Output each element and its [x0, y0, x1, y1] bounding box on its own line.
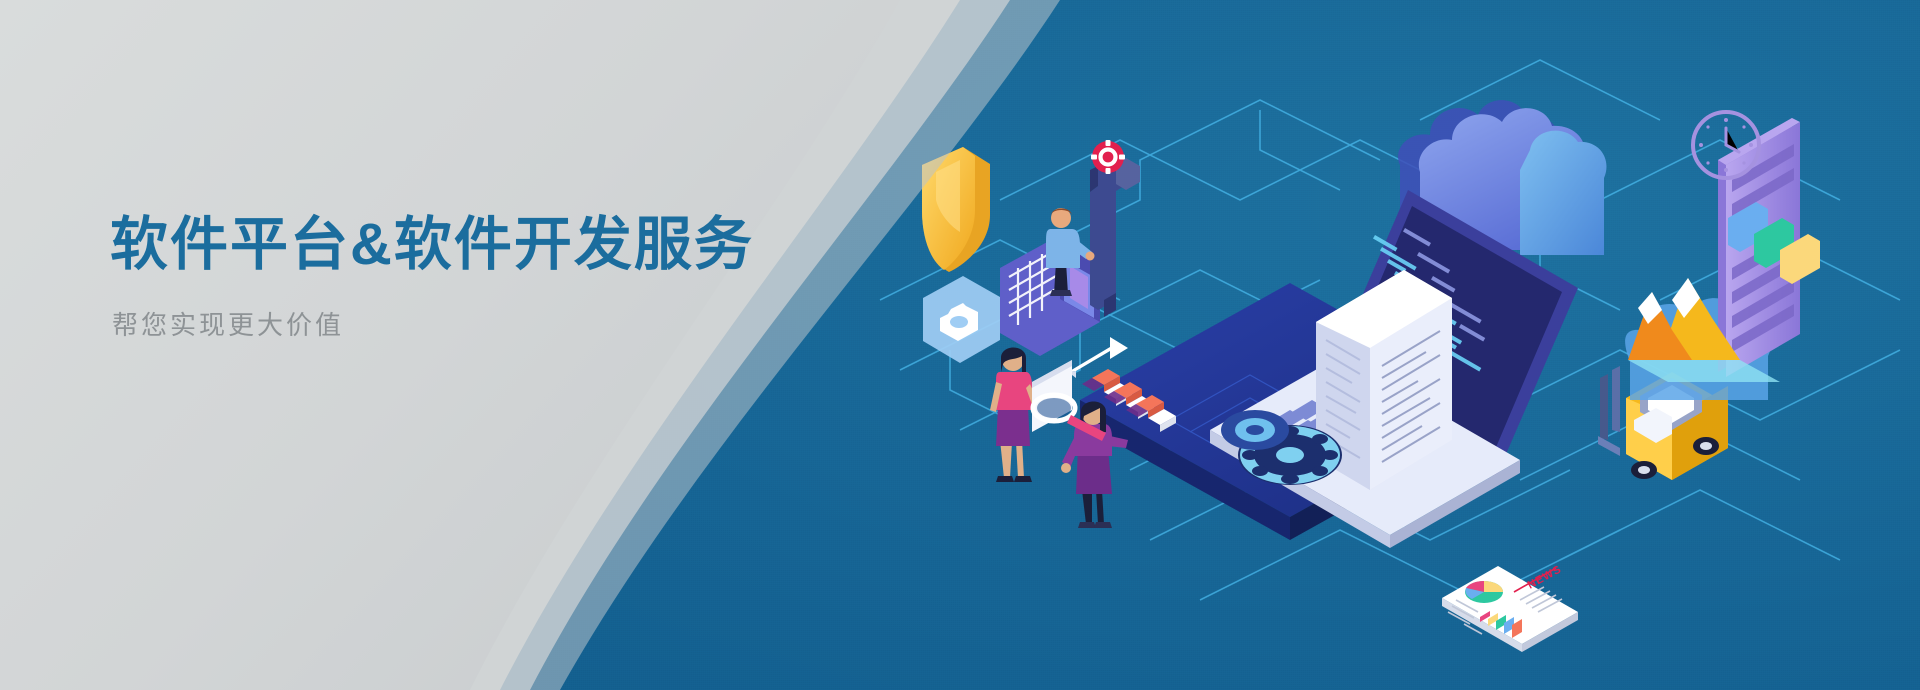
hero-banner: NEWS 软件平台&软件开发服务 帮您实现更大价值 — [0, 0, 1920, 690]
camera-icon — [923, 276, 1000, 363]
page-subtitle: 帮您实现更大价值 — [112, 305, 344, 342]
news-document: NEWS — [1442, 563, 1578, 652]
wrench-icon — [1090, 140, 1140, 317]
text-block: 软件平台&软件开发服务 帮您实现更大价值 — [0, 0, 860, 690]
page-title: 软件平台&软件开发服务 — [110, 213, 754, 277]
pie-chart-icon — [1465, 581, 1503, 603]
dashboard-panel — [1718, 118, 1820, 377]
clock-icon — [1693, 112, 1759, 178]
